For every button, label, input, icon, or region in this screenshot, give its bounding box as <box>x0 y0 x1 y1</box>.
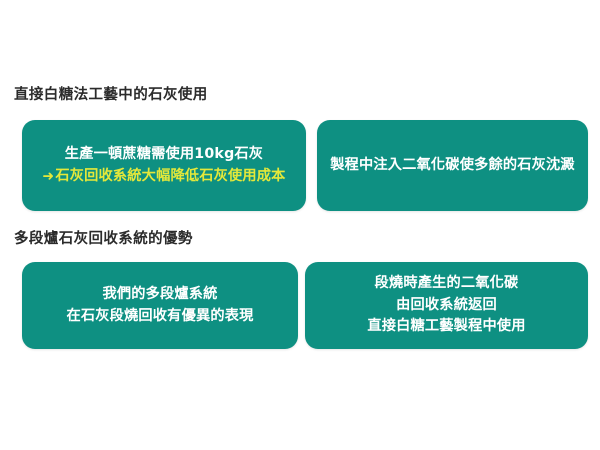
card-co2-recycling[interactable]: 段燒時產生的二氧化碳 由回收系統返回 直接白糖工藝製程中使用 <box>305 262 588 349</box>
card-row-furnace-advantages: 我們的多段爐系統 在石灰段燒回收有優異的表現 段燒時產生的二氧化碳 由回收系統返… <box>22 262 588 349</box>
card-row-lime-usage: 生產一頓蔗糖需使用10kg石灰 ➜ 石灰回收系統大幅降低石灰使用成本 製程中注入… <box>22 120 588 211</box>
card-line-text: 段燒時產生的二氧化碳 <box>375 273 519 295</box>
card-line-text: 生產一頓蔗糖需使用10kg石灰 <box>65 144 263 166</box>
card-line-text: 製程中注入二氧化碳使多餘的石灰沈澱 <box>330 155 575 177</box>
arrow-right-icon: ➜ <box>42 170 54 184</box>
card-line-text: 我們的多段爐系統 <box>102 284 217 306</box>
card-lime-consumption[interactable]: 生產一頓蔗糖需使用10kg石灰 ➜ 石灰回收系統大幅降低石灰使用成本 <box>22 120 306 211</box>
infographic-slide: 直接白糖法工藝中的石灰使用 生產一頓蔗糖需使用10kg石灰 ➜ 石灰回收系統大幅… <box>0 0 600 450</box>
card-line-text: 在石灰段燒回收有優異的表現 <box>66 306 253 328</box>
card-multi-hearth-performance[interactable]: 我們的多段爐系統 在石灰段燒回收有優異的表現 <box>22 262 298 349</box>
card-co2-injection[interactable]: 製程中注入二氧化碳使多餘的石灰沈澱 <box>317 120 588 211</box>
card-line-text: 由回收系統返回 <box>396 295 497 317</box>
card-line-highlight: ➜ 石灰回收系統大幅降低石灰使用成本 <box>42 166 285 188</box>
card-line-highlight-text: 石灰回收系統大幅降低石灰使用成本 <box>55 166 285 188</box>
section-heading-lime-usage: 直接白糖法工藝中的石灰使用 <box>14 88 208 103</box>
card-line-text: 直接白糖工藝製程中使用 <box>367 316 525 338</box>
section-heading-furnace-advantages: 多段爐石灰回收系統的優勢 <box>14 232 193 247</box>
